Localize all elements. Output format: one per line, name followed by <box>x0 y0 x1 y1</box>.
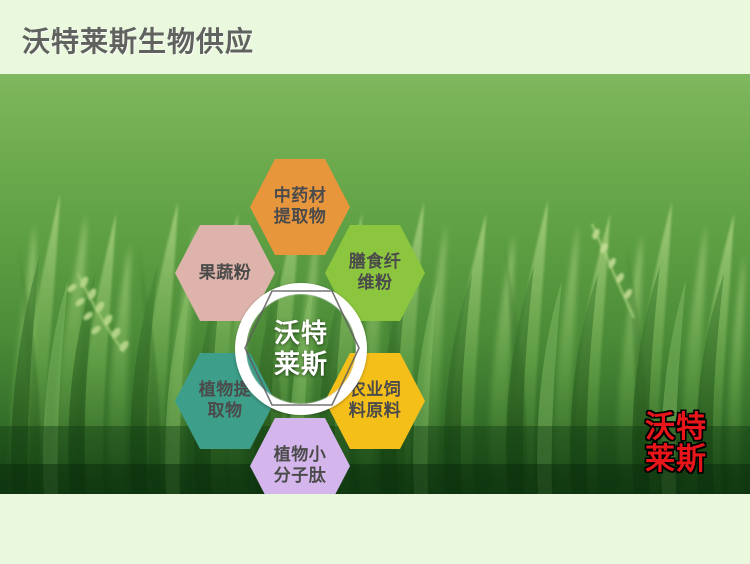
hex-label-line2: 提取物 <box>274 207 327 228</box>
hex-label-line1: 果蔬粉 <box>199 263 252 284</box>
hex-plant-small-molecule-peptide[interactable]: 植物小 分子肽 <box>250 418 350 494</box>
header-band: 沃特莱斯生物供应 <box>0 0 750 74</box>
hex-label-line2: 分子肽 <box>274 466 327 487</box>
hero-photo: 果蔬粉 中药材 提取物 膳食纤 维粉 农业饲 料原料 <box>0 74 750 494</box>
hex-tcm-extract[interactable]: 中药材 提取物 <box>250 159 350 255</box>
slide-canvas: 沃特莱斯生物供应 <box>0 0 750 564</box>
watermark-line2: 莱斯 <box>645 444 707 476</box>
product-hexagon-wheel: 果蔬粉 中药材 提取物 膳食纤 维粉 农业饲 料原料 <box>137 159 467 494</box>
footer-band <box>0 494 750 564</box>
hex-label-line1: 膳食纤 <box>349 252 402 273</box>
brand-watermark: 沃特 莱斯 <box>645 412 707 476</box>
hex-label-line1: 植物小 <box>274 445 327 466</box>
page-title: 沃特莱斯生物供应 <box>22 20 254 60</box>
center-hexagon-outline-icon <box>241 287 363 409</box>
watermark-line1: 沃特 <box>645 412 707 444</box>
hex-label-line1: 中药材 <box>274 186 327 207</box>
